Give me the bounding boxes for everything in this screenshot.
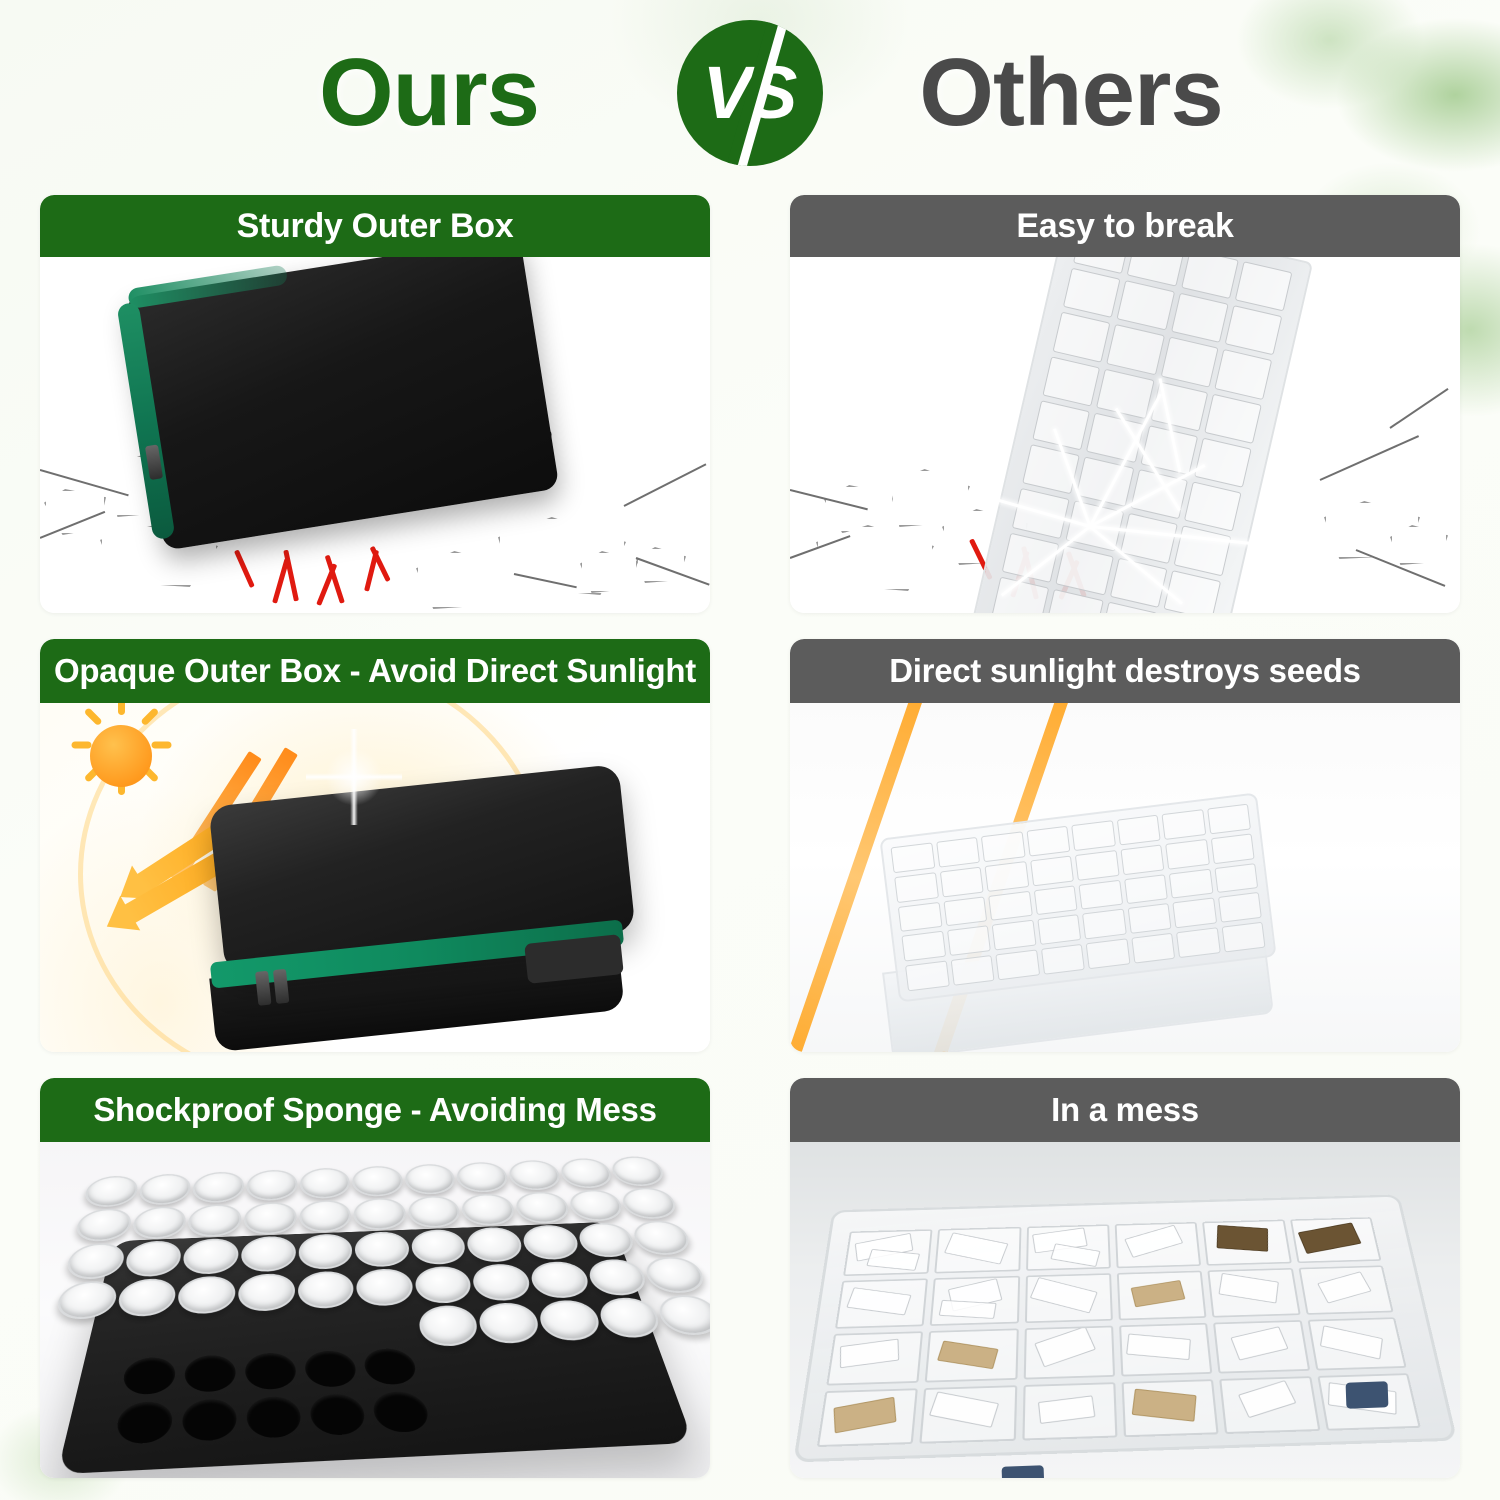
seed-jar bbox=[465, 1227, 524, 1263]
compartment bbox=[1117, 1271, 1207, 1321]
seed-jar bbox=[520, 1224, 581, 1260]
compartments-with-seed-packets bbox=[817, 1217, 1421, 1447]
compartment bbox=[1122, 1379, 1219, 1437]
card-ours-sturdy-outer-box: Sturdy Outer Box bbox=[40, 195, 710, 613]
card-image-direct-sunlight bbox=[790, 703, 1460, 1052]
compartment bbox=[920, 1385, 1017, 1444]
card-image-opaque-outer-box bbox=[40, 703, 710, 1052]
card-image-in-a-mess bbox=[790, 1142, 1460, 1478]
seed-jar bbox=[237, 1273, 295, 1313]
card-others-easy-to-break: Easy to break bbox=[790, 195, 1460, 613]
black-carrying-case-ours bbox=[124, 257, 559, 551]
compartment bbox=[1202, 1220, 1291, 1266]
seed-jar bbox=[566, 1189, 626, 1222]
compartment bbox=[930, 1276, 1020, 1326]
seed-jar bbox=[297, 1270, 354, 1310]
seed-jar bbox=[655, 1294, 710, 1336]
seed-jar bbox=[537, 1300, 604, 1342]
seed-jar bbox=[130, 1205, 188, 1240]
compartment bbox=[843, 1229, 933, 1276]
seed-jar bbox=[575, 1222, 638, 1258]
box-latch-icon bbox=[1002, 1465, 1045, 1478]
seed-jar bbox=[355, 1231, 411, 1268]
seed-jar bbox=[585, 1258, 650, 1297]
seed-jar bbox=[187, 1203, 243, 1237]
card-title-in-a-mess: In a mess bbox=[790, 1078, 1460, 1142]
seed-jar bbox=[596, 1297, 665, 1339]
seed-jar bbox=[404, 1163, 457, 1194]
card-title-opaque-outer-box: Opaque Outer Box - Avoid Direct Sunlight bbox=[40, 639, 710, 703]
seed-jar bbox=[642, 1256, 709, 1294]
seed-jar bbox=[528, 1261, 592, 1300]
others-heading: Others bbox=[861, 45, 1281, 141]
card-image-shockproof-sponge bbox=[40, 1142, 710, 1478]
seed-jar bbox=[418, 1305, 481, 1348]
seed-jar bbox=[471, 1263, 533, 1302]
sparkle-icon bbox=[306, 729, 402, 825]
compartment bbox=[925, 1328, 1018, 1382]
seed-jar bbox=[299, 1199, 352, 1233]
seed-jar bbox=[558, 1158, 616, 1189]
comparison-infographic: Ours VS Others Sturdy Outer Box bbox=[0, 0, 1500, 1500]
page-header: Ours VS Others bbox=[0, 0, 1500, 185]
box-compartments bbox=[992, 257, 1293, 613]
seed-jar bbox=[353, 1197, 407, 1231]
seed-jar bbox=[115, 1278, 178, 1318]
box-compartments bbox=[891, 804, 1266, 992]
seed-jar bbox=[407, 1195, 462, 1229]
compartment bbox=[1022, 1382, 1117, 1440]
seed-jar bbox=[137, 1173, 193, 1205]
compartment bbox=[1213, 1320, 1310, 1373]
compartment bbox=[1219, 1376, 1320, 1434]
sun-icon bbox=[90, 725, 152, 787]
vs-badge-icon: VS bbox=[677, 20, 823, 166]
seed-jar bbox=[64, 1242, 127, 1279]
seed-jar bbox=[410, 1229, 468, 1265]
seed-jar bbox=[240, 1236, 296, 1273]
sunlight-passthrough-scene-others bbox=[790, 703, 1460, 1052]
card-title-sturdy-outer-box: Sturdy Outer Box bbox=[40, 195, 710, 257]
seed-jar bbox=[455, 1161, 510, 1192]
box-latch-icon bbox=[1346, 1381, 1389, 1408]
compartment bbox=[1025, 1273, 1113, 1323]
seed-jar bbox=[352, 1165, 404, 1197]
seed-jar bbox=[298, 1233, 353, 1270]
seed-jar bbox=[54, 1280, 120, 1320]
seed-jar bbox=[619, 1187, 681, 1220]
seed-jar bbox=[414, 1265, 474, 1304]
sunlight-deflection-scene-ours bbox=[40, 703, 710, 1052]
shattering-box-scene-others bbox=[790, 257, 1460, 613]
foam-tray-scene-ours bbox=[40, 1142, 710, 1478]
seed-jar bbox=[513, 1191, 572, 1224]
compartment bbox=[1298, 1265, 1393, 1314]
messy-organizer-scene-others bbox=[790, 1142, 1460, 1478]
seed-jar bbox=[243, 1201, 297, 1235]
card-others-in-a-mess: In a mess bbox=[790, 1078, 1460, 1478]
card-image-easy-to-break bbox=[790, 257, 1460, 613]
seed-jar bbox=[176, 1275, 237, 1315]
ours-heading: Ours bbox=[219, 45, 639, 141]
compartment bbox=[1026, 1224, 1111, 1270]
compartment bbox=[817, 1388, 918, 1447]
seed-jar bbox=[181, 1238, 239, 1275]
clear-plastic-box-others bbox=[971, 257, 1313, 613]
seed-jar bbox=[82, 1175, 140, 1207]
comparison-grid: Sturdy Outer Box bbox=[40, 195, 1460, 1478]
seed-jar bbox=[608, 1156, 667, 1187]
compartment bbox=[1307, 1317, 1406, 1370]
empty-foam-holes bbox=[115, 1348, 433, 1445]
zipper-pull-icon bbox=[255, 971, 271, 1006]
card-others-direct-sunlight: Direct sunlight destroys seeds bbox=[790, 639, 1460, 1052]
seed-jar bbox=[245, 1169, 297, 1201]
cracked-wall-scene-ours bbox=[40, 257, 710, 613]
compartment bbox=[835, 1278, 928, 1328]
card-image-sturdy-outer-box bbox=[40, 257, 710, 613]
seed-jar bbox=[630, 1220, 694, 1256]
seed-jar bbox=[123, 1240, 183, 1277]
zipper-pull-icon bbox=[145, 444, 163, 480]
compartment bbox=[1115, 1222, 1202, 1268]
card-ours-opaque-outer-box: Opaque Outer Box - Avoid Direct Sunlight bbox=[40, 639, 710, 1052]
zipper-pull-icon bbox=[273, 969, 289, 1004]
card-title-shockproof-sponge: Shockproof Sponge - Avoiding Mess bbox=[40, 1078, 710, 1142]
seed-jar bbox=[73, 1208, 133, 1243]
clear-seed-jars-grid bbox=[42, 1156, 710, 1365]
seed-jar bbox=[356, 1268, 414, 1307]
compartment bbox=[1119, 1323, 1213, 1377]
seed-jar bbox=[299, 1167, 350, 1199]
seed-jar bbox=[477, 1302, 542, 1344]
card-title-direct-sunlight: Direct sunlight destroys seeds bbox=[790, 639, 1460, 703]
seed-jar bbox=[191, 1171, 245, 1203]
compartment bbox=[1290, 1217, 1382, 1263]
seed-jar bbox=[507, 1159, 563, 1190]
compartment bbox=[826, 1331, 923, 1385]
card-ours-shockproof-sponge: Shockproof Sponge - Avoiding Mess bbox=[40, 1078, 710, 1478]
compartment bbox=[935, 1227, 1022, 1274]
card-title-easy-to-break: Easy to break bbox=[790, 195, 1460, 257]
seed-jar bbox=[460, 1193, 517, 1227]
compartment bbox=[1023, 1326, 1115, 1380]
compartment bbox=[1208, 1268, 1301, 1318]
